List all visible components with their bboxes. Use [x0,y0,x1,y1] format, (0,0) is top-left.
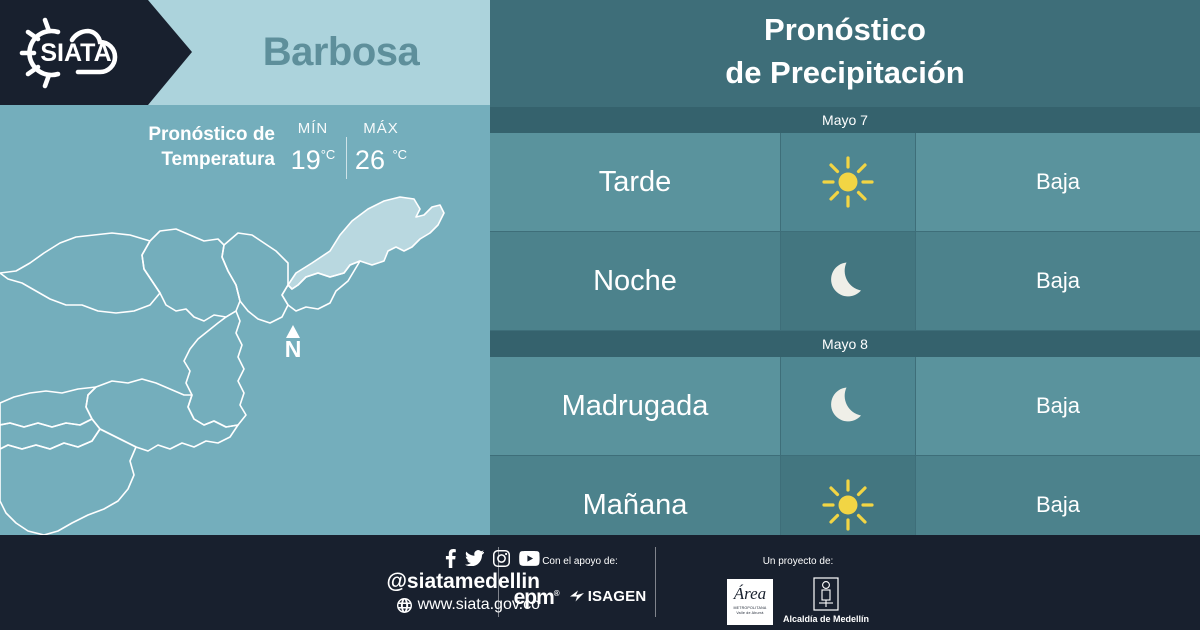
map-region-medellin [184,311,246,427]
alcaldia-label: Alcaldía de Medellín [783,613,869,625]
forecast-level-label: Baja [1036,492,1080,518]
twitter-icon[interactable] [465,550,484,566]
facebook-icon[interactable] [445,549,456,568]
alcaldia-logo: Alcaldía de Medellín [783,577,869,625]
forecast-level-cell: Baja [916,357,1200,455]
forecast-row: Tarde Baj [490,133,1200,231]
project-label: Un proyecto de: [718,555,878,569]
temperature-min-unit: °C [321,147,336,162]
forecast-level-label: Baja [1036,393,1080,419]
forecast-icon-cell [781,357,915,455]
forecast-level-label: Baja [1036,268,1080,294]
epm-logo: epm® [514,583,559,609]
forecast-level-label: Baja [1036,169,1080,195]
temperature-max-value: 26 °C [350,139,412,176]
date-band-mayo-7: Mayo 7 [490,107,1200,133]
isagen-logo: ISAGEN [569,588,647,605]
forecast-level-cell: Baja [916,133,1200,231]
forecast-icon-cell [781,232,915,330]
area-logo-sub2: Valle de Aburrá [727,611,773,616]
map-region-bello [142,229,240,321]
right-panel: Pronóstico de Precipitación Mayo 7 Mayo … [490,0,1200,535]
forecast-period-cell: Noche [490,232,780,330]
forecast-period-label: Mañana [583,489,688,522]
sun-icon [820,154,876,210]
left-header: SIATA Barbosa [0,0,490,105]
date-band-mayo-8: Mayo 8 [490,331,1200,357]
temperature-min-label: MÍN [282,119,344,139]
siata-logo-text: SIATA [40,39,111,67]
area-metropolitana-logo: Área METROPOLITANA Valle de Aburrá [727,579,773,625]
temperature-max-unit: °C [392,147,407,162]
forecast-title: Pronóstico de Precipitación [490,8,1200,94]
forecast-level-cell: Baja [916,232,1200,330]
project-block: Un proyecto de: Área METROPOLITANA Valle… [718,555,878,625]
map-region-itagui [86,379,238,451]
footer-divider-1 [498,547,499,617]
isagen-mark-icon [569,589,585,603]
north-arrow-label: N [278,336,308,362]
temperature-block: Pronóstico de Temperatura MÍN 19°C MÁX 2… [0,105,490,195]
isagen-label: ISAGEN [588,588,647,605]
north-arrow-icon: N [278,325,308,373]
map-region-northwest [0,233,160,313]
support-logos: epm® ISAGEN [505,583,655,609]
forecast-title-line2: de Precipitación [490,51,1200,94]
forecast-period-label: Tarde [599,166,672,199]
forecast-period-cell: Madrugada [490,357,780,455]
moon-icon [820,378,876,434]
temperature-min-value: 19°C [282,139,344,176]
aburra-valley-map: N [0,185,490,535]
area-logo-script: Área [727,585,773,603]
map-svg [0,185,490,535]
forecast-row: Noche Baja [490,232,1200,330]
sun-cloud-icon: SIATA [14,16,139,90]
globe-icon [397,598,412,613]
siata-logo-banner: SIATA [0,0,192,105]
project-logos: Área METROPOLITANA Valle de Aburrá Alcal… [718,577,878,625]
support-label: Con el apoyo de: [505,555,655,569]
forecast-icon-cell [781,133,915,231]
forecast-title-line1: Pronóstico [490,8,1200,51]
footer: @siatamedellin www.siata.gov.co Con el a… [0,535,1200,630]
map-region-west-a [0,387,96,427]
alcaldia-crest-icon [813,577,839,611]
city-title: Barbosa [192,0,490,105]
temperature-max: MÁX 26 °C [350,119,412,176]
temperature-max-label: MÁX [350,119,412,139]
temperature-values: MÍN 19°C MÁX 26 °C [282,119,412,181]
forecast-period-cell: Tarde [490,133,780,231]
infographic-root: SIATA Barbosa Pronóstico de Temperatura … [0,0,1200,630]
temperature-divider [346,137,347,179]
footer-divider-2 [655,547,656,617]
forecast-row: Madrugada Baja [490,357,1200,455]
temperature-title: Pronóstico de Temperatura [95,122,275,172]
temperature-min: MÍN 19°C [282,119,344,176]
temperature-title-line1: Pronóstico de [95,122,275,147]
left-panel: SIATA Barbosa Pronóstico de Temperatura … [0,0,490,535]
moon-icon [820,253,876,309]
forecast-period-label: Noche [593,265,677,298]
support-block: Con el apoyo de: epm® ISAGEN [505,555,655,609]
forecast-period-label: Madrugada [562,390,709,423]
map-region-south [0,429,136,535]
temperature-title-line2: Temperatura [95,147,275,172]
sun-icon [820,477,876,533]
